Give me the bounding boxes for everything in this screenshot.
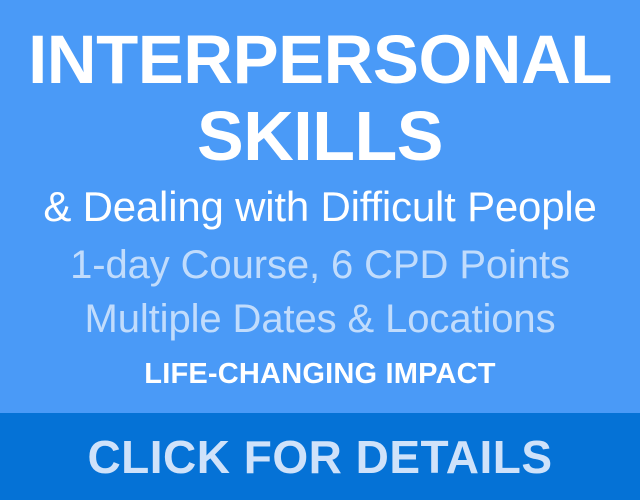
headline-line-1: INTERPERSONAL bbox=[12, 24, 628, 96]
impact-statement: LIFE-CHANGING IMPACT bbox=[12, 358, 628, 390]
course-detail-dates-locations: Multiple Dates & Locations bbox=[12, 292, 628, 346]
banner-message-block: INTERPERSONAL SKILLS & Dealing with Diff… bbox=[0, 0, 640, 413]
headline-line-2: SKILLS bbox=[12, 100, 628, 172]
click-for-details-button[interactable]: CLICK FOR DETAILS bbox=[0, 413, 640, 500]
cta-button-label: CLICK FOR DETAILS bbox=[87, 433, 552, 481]
course-detail-duration-cpd: 1-day Course, 6 CPD Points bbox=[12, 238, 628, 292]
advertisement-banner[interactable]: INTERPERSONAL SKILLS & Dealing with Diff… bbox=[0, 0, 640, 500]
subheadline: & Dealing with Difficult People bbox=[12, 184, 628, 230]
